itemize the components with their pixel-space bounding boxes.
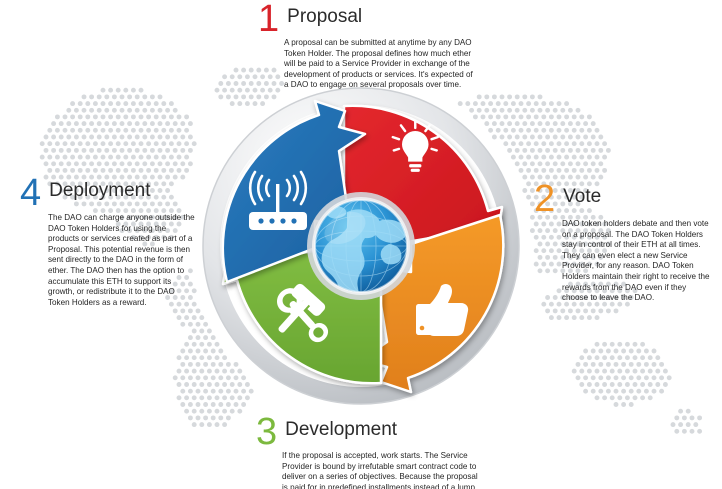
step-deployment-number: 4 bbox=[20, 176, 40, 210]
step-development-header: 3 Development bbox=[256, 415, 481, 449]
step-deployment-title: Deployment bbox=[40, 180, 150, 202]
step-proposal: 1 Proposal A proposal can be submitted a… bbox=[258, 2, 473, 91]
step-vote-title: Vote bbox=[554, 186, 601, 208]
step-proposal-body: A proposal can be submitted at anytime b… bbox=[284, 38, 474, 91]
step-proposal-title: Proposal bbox=[278, 6, 362, 28]
globe-icon bbox=[307, 192, 415, 300]
step-deployment-body: The DAO can charge anyone outside the DA… bbox=[48, 213, 195, 308]
step-development-body: If the proposal is accepted, work starts… bbox=[282, 451, 481, 489]
step-vote-body: DAO token holders debate and then vote o… bbox=[562, 219, 714, 304]
step-vote: 2 Vote DAO token holders debate and then… bbox=[534, 182, 718, 304]
step-vote-number: 2 bbox=[534, 182, 554, 216]
step-development-title: Development bbox=[276, 419, 397, 441]
cycle-diagram bbox=[197, 82, 525, 410]
step-development: 3 Development If the proposal is accepte… bbox=[256, 415, 481, 489]
step-development-number: 3 bbox=[256, 415, 276, 449]
step-proposal-number: 1 bbox=[258, 2, 278, 36]
step-proposal-header: 1 Proposal bbox=[258, 2, 473, 36]
step-deployment: 4 Deployment The DAO can charge anyone o… bbox=[20, 176, 200, 308]
infographic-canvas: 1 Proposal A proposal can be submitted a… bbox=[0, 0, 722, 489]
step-deployment-header: 4 Deployment bbox=[20, 176, 200, 210]
step-vote-header: 2 Vote bbox=[534, 182, 718, 216]
